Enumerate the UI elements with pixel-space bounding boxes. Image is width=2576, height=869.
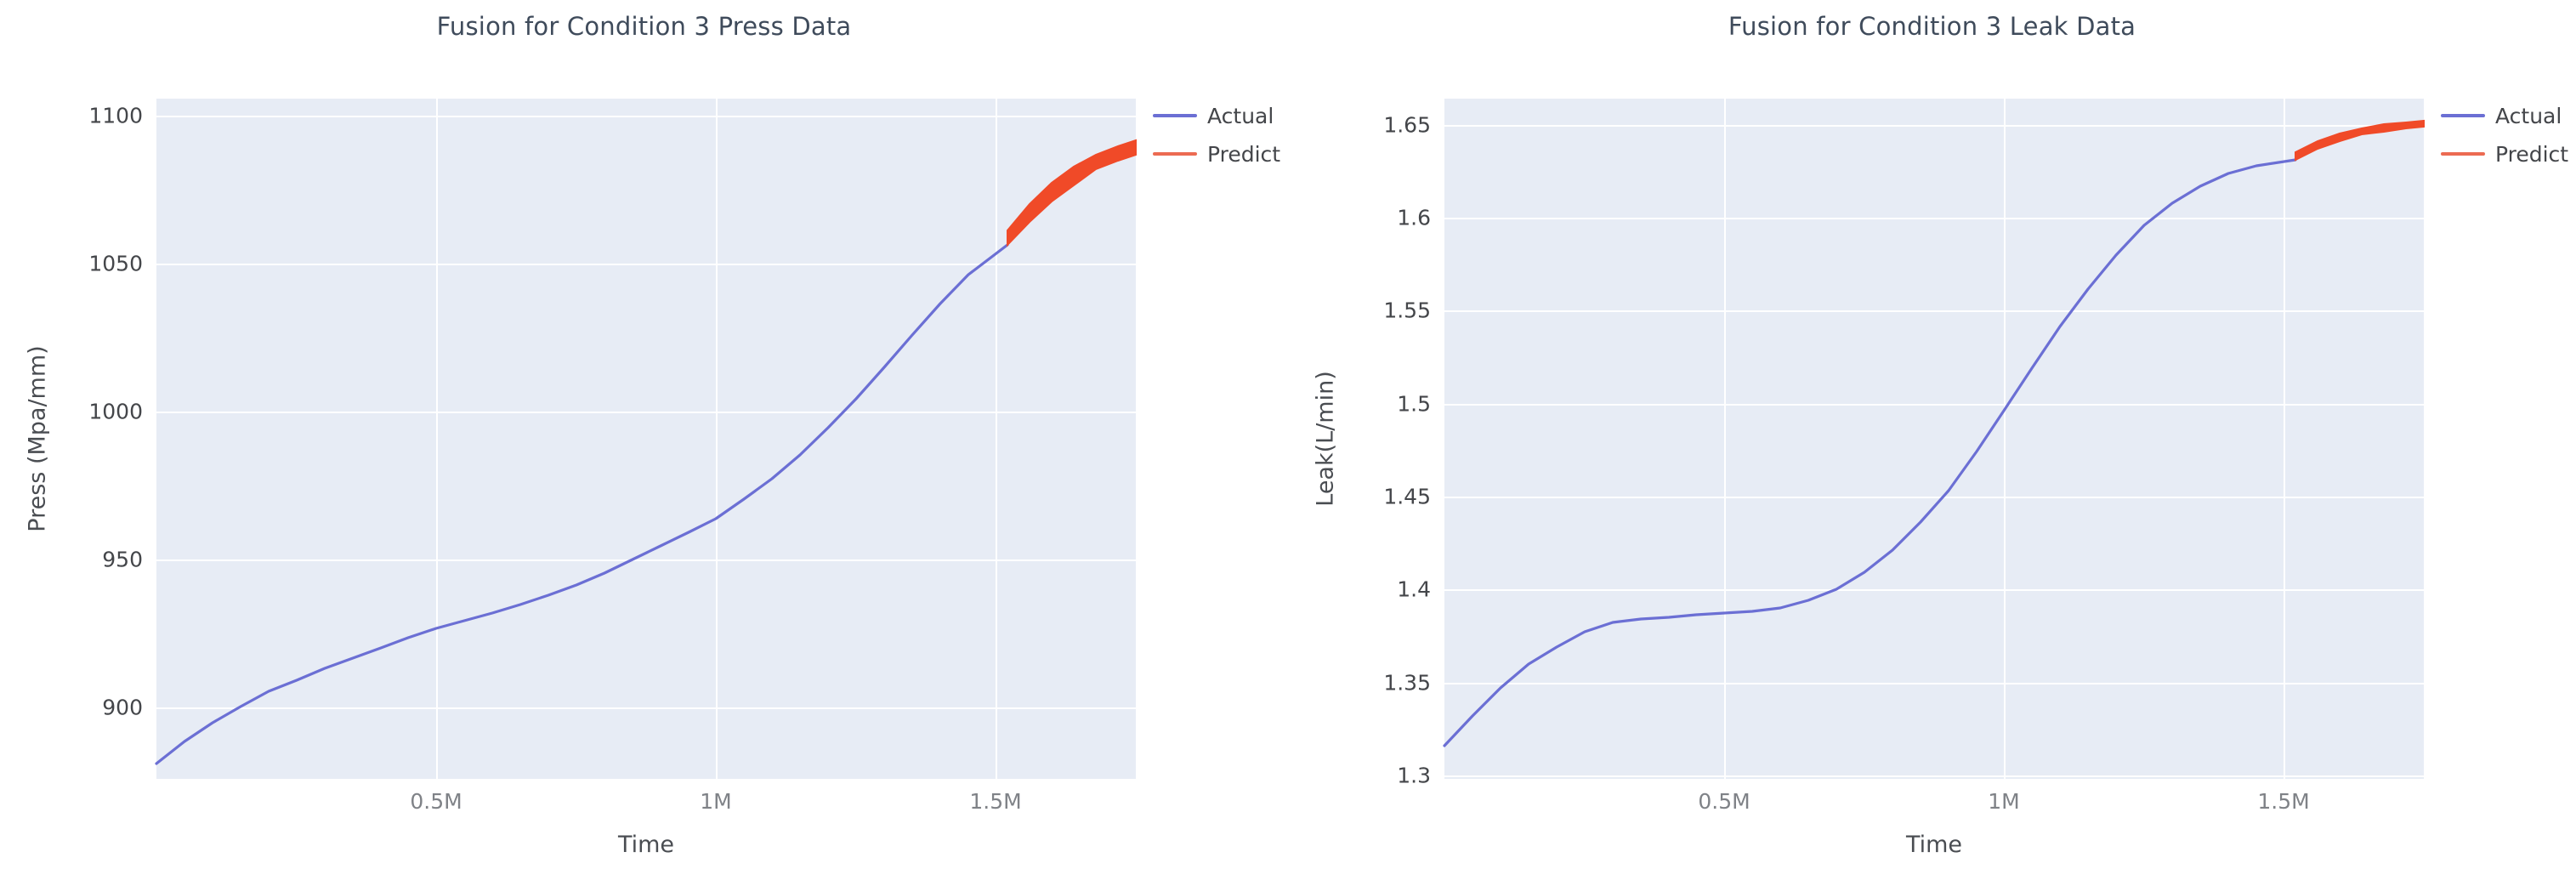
x-tick-label: 1M: [1988, 789, 2019, 814]
x-axis-label-press: Time: [156, 832, 1136, 858]
y-tick-label: 1.6: [1397, 206, 1431, 230]
y-tick-label: 1.55: [1383, 298, 1431, 323]
legend-label: Predict: [2495, 142, 2568, 167]
legend-line-icon: [1153, 114, 1197, 117]
legend-line-icon: [2441, 114, 2485, 117]
y-axis-label-press: Press (Mpa/mm): [25, 345, 51, 531]
y-tick-label: 950: [102, 548, 143, 572]
x-tick-label: 1.5M: [2257, 789, 2309, 814]
series-predict-leak: [2295, 121, 2424, 160]
y-tick-label: 900: [102, 696, 143, 720]
y-tick-label: 1.4: [1397, 577, 1431, 602]
y-tick-label: 1050: [88, 252, 143, 276]
series-actual-press: [156, 245, 1007, 764]
series-predict-press: [1007, 140, 1136, 245]
legend-item-actual[interactable]: Actual: [2441, 104, 2568, 128]
legend-label: Actual: [2495, 104, 2562, 128]
legend-item-predict[interactable]: Predict: [1153, 142, 1280, 166]
chart-title-leak: Fusion for Condition 3 Leak Data: [1288, 12, 2576, 41]
legend-press: Actual Predict: [1153, 104, 1280, 166]
y-tick-label: 1000: [88, 400, 143, 424]
x-tick-label: 1M: [700, 789, 731, 814]
plot-area-leak: [1444, 99, 2424, 779]
series-actual-leak: [1444, 160, 2295, 746]
y-tick-label: 1.65: [1383, 113, 1431, 138]
legend-line-icon: [2441, 152, 2485, 156]
legend-item-actual[interactable]: Actual: [1153, 104, 1280, 128]
y-tick-label: 1.35: [1383, 671, 1431, 696]
chart-title-press: Fusion for Condition 3 Press Data: [0, 12, 1288, 41]
x-axis-label-leak: Time: [1444, 832, 2424, 858]
chart-panel-leak: Fusion for Condition 3 Leak Data Leak(L/…: [1288, 0, 2576, 869]
y-axis-label-leak: Leak(L/min): [1313, 371, 1339, 506]
x-tick-label: 1.5M: [969, 789, 1021, 814]
legend-leak: Actual Predict: [2441, 104, 2568, 166]
legend-label: Predict: [1207, 142, 1280, 167]
y-tick-label: 1.3: [1397, 764, 1431, 788]
series-layer-press: [156, 99, 1136, 779]
x-tick-label: 0.5M: [1698, 789, 1750, 814]
x-tick-label: 0.5M: [410, 789, 462, 814]
plot-area-press: [156, 99, 1136, 779]
legend-line-icon: [1153, 152, 1197, 156]
y-tick-label: 1.5: [1397, 392, 1431, 417]
chart-panel-press: Fusion for Condition 3 Press Data Press …: [0, 0, 1288, 869]
y-tick-label: 1.45: [1383, 485, 1431, 509]
legend-label: Actual: [1207, 104, 1274, 128]
y-tick-label: 1100: [88, 104, 143, 128]
series-layer-leak: [1444, 99, 2424, 779]
legend-item-predict[interactable]: Predict: [2441, 142, 2568, 166]
figure-canvas: Fusion for Condition 3 Press Data Press …: [0, 0, 2576, 869]
